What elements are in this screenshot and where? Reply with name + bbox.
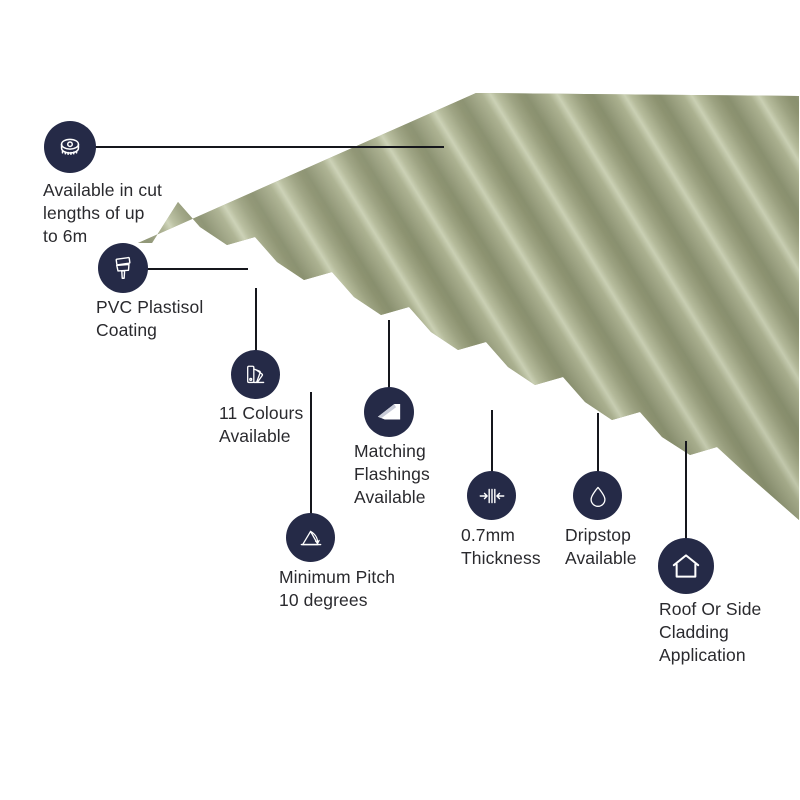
paint-brush-icon xyxy=(98,243,148,293)
feature-label-cut-lengths: Available in cut lengths of up to 6m xyxy=(43,179,223,247)
feature-label-dripstop: Dripstop Available xyxy=(565,524,745,570)
leader-line-colours xyxy=(255,288,257,352)
thickness-arrows-icon xyxy=(467,471,516,520)
leader-line-dripstop xyxy=(597,413,599,472)
house-outline-icon xyxy=(658,538,714,594)
feature-label-pvc-plastisol: PVC Plastisol Coating xyxy=(96,296,276,342)
leader-line-thickness xyxy=(491,410,493,472)
leader-line-cut-lengths xyxy=(84,146,444,148)
colour-swatch-fan-icon xyxy=(231,350,280,399)
leader-line-flashings xyxy=(388,320,390,388)
pitch-angle-icon xyxy=(286,513,335,562)
leader-line-min-pitch xyxy=(310,392,312,514)
water-droplet-icon xyxy=(573,471,622,520)
flashing-bend-icon xyxy=(364,387,414,437)
tape-measure-icon xyxy=(44,121,96,173)
feature-label-min-pitch: Minimum Pitch 10 degrees xyxy=(279,566,479,612)
leader-line-pvc-plastisol xyxy=(140,268,248,270)
leader-line-cladding xyxy=(685,441,687,539)
product-infographic: Available in cut lengths of up to 6m PVC… xyxy=(0,0,800,800)
feature-label-cladding: Roof Or Side Cladding Application xyxy=(659,598,800,666)
